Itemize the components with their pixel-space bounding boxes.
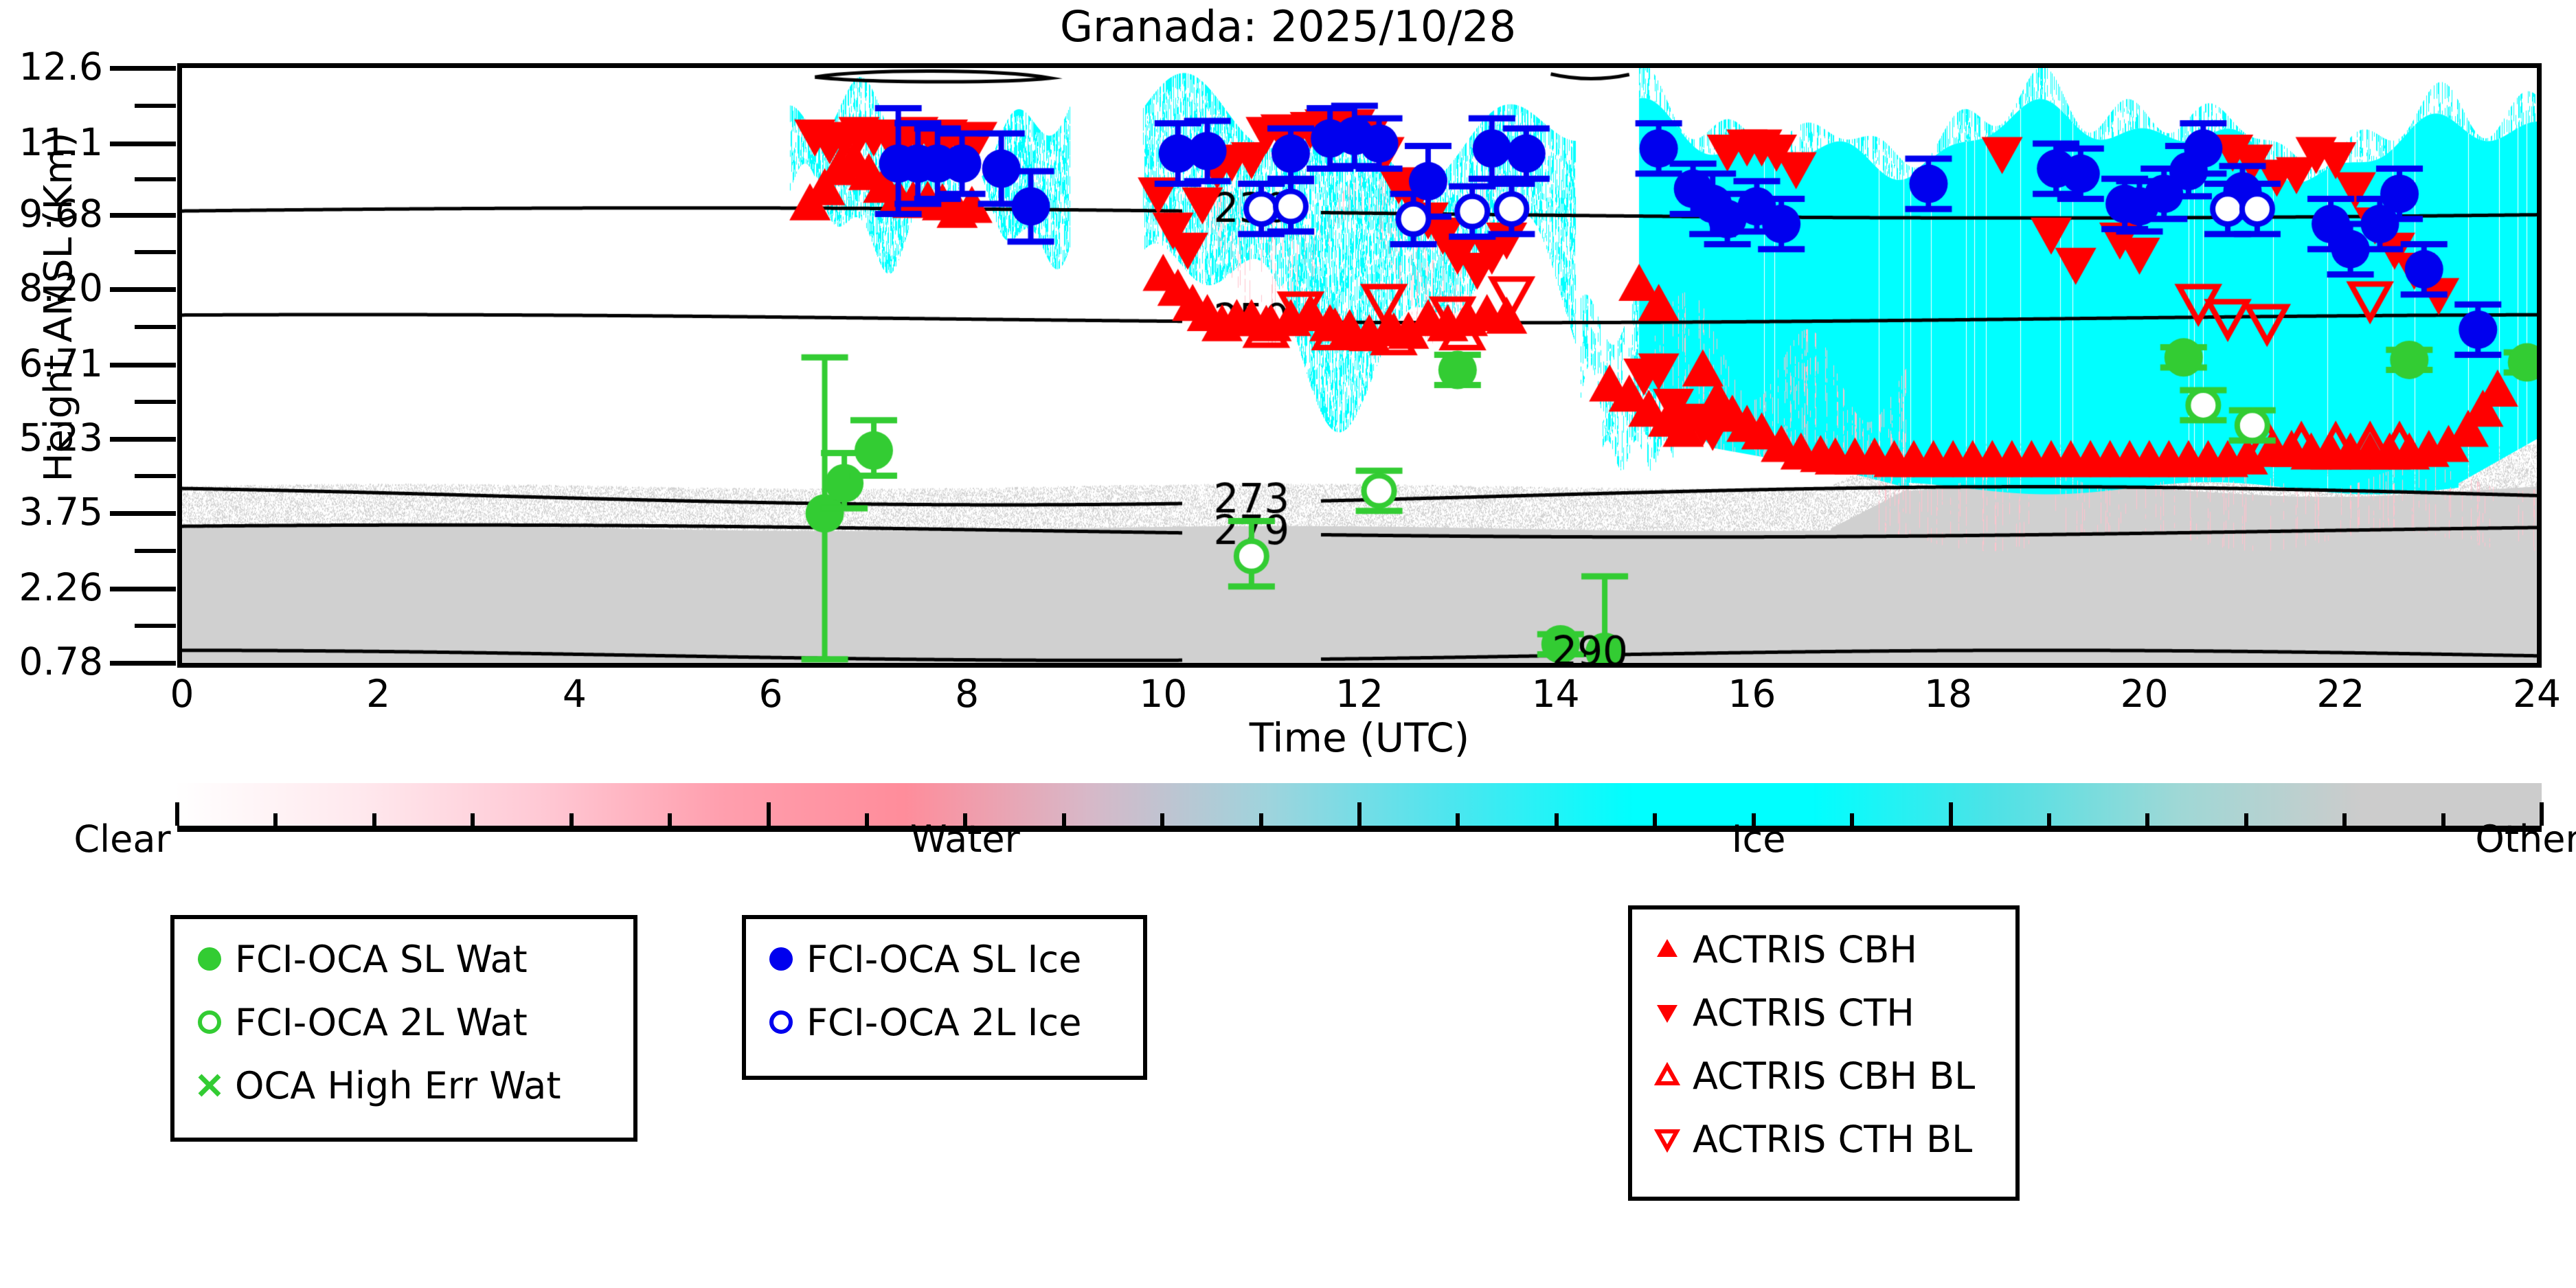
filled-circle-icon xyxy=(184,943,235,975)
legend-item[interactable]: OCA High Err Wat xyxy=(184,1054,633,1117)
filled-circle-icon xyxy=(756,943,806,975)
y-tick-label: 12.6 xyxy=(0,45,103,89)
colorbar-tick xyxy=(1555,813,1559,826)
colorbar-label-other: Other xyxy=(2475,817,2576,861)
colorbar-label-water: Water xyxy=(910,817,1020,861)
legend-item[interactable]: FCI-OCA SL Ice xyxy=(756,927,1143,991)
colorbar-tick xyxy=(471,813,475,826)
x-tick-label: 24 xyxy=(2482,672,2576,716)
colorbar-tick xyxy=(668,813,672,826)
colorbar-tick xyxy=(1850,813,1854,826)
colorbar-tick xyxy=(1160,813,1164,826)
legend-ice: FCI-OCA SL Ice FCI-OCA 2L Ice xyxy=(742,915,1147,1080)
x-tick-label: 4 xyxy=(519,672,629,716)
y-tick xyxy=(110,66,176,71)
x-tick-label: 8 xyxy=(912,672,1022,716)
x-tick-label: 14 xyxy=(1501,672,1611,716)
colorbar-tick xyxy=(372,813,376,826)
y-tick-label: 11.1 xyxy=(0,120,103,164)
x-tick-label: 12 xyxy=(1304,672,1414,716)
y-tick xyxy=(110,587,176,591)
y-tick xyxy=(110,661,176,666)
y-tick xyxy=(110,363,176,368)
legend-label: FCI-OCA SL Ice xyxy=(806,938,1081,981)
legend-item[interactable]: FCI-OCA SL Wat xyxy=(184,927,633,991)
y-tick-minor xyxy=(135,177,176,181)
y-tick xyxy=(110,213,176,218)
colorbar-tick xyxy=(569,813,574,826)
plot-area xyxy=(177,63,2542,668)
open-circle-icon xyxy=(756,1006,806,1038)
page-title: Granada: 2025/10/28 xyxy=(0,1,2576,52)
colorbar-axis-line xyxy=(177,826,2542,832)
x-tick-label: 6 xyxy=(716,672,826,716)
colorbar-tick xyxy=(865,813,869,826)
x-tick-label: 20 xyxy=(2090,672,2200,716)
colorbar-tick xyxy=(2244,813,2248,826)
y-tick-minor xyxy=(135,250,176,254)
y-tick-minor xyxy=(135,104,176,108)
y-tick-minor xyxy=(135,624,176,628)
y-tick xyxy=(110,287,176,292)
y-tick xyxy=(110,142,176,146)
y-tick-label: 2.26 xyxy=(0,565,103,609)
x-tick-label: 22 xyxy=(2285,672,2395,716)
open-triangle-up-icon xyxy=(1642,1060,1693,1092)
legend-water: FCI-OCA SL Wat FCI-OCA 2L Wat OCA High E… xyxy=(170,915,637,1142)
open-circle-icon xyxy=(184,1006,235,1038)
legend-item[interactable]: ACTRIS CTH xyxy=(1642,981,2015,1044)
y-tick-label: 8.20 xyxy=(0,266,103,310)
colorbar-tick xyxy=(2145,813,2149,826)
colorbar-tick xyxy=(1456,813,1460,826)
colorbar-tick xyxy=(175,802,179,826)
colorbar-tick xyxy=(1259,813,1263,826)
colorbar-tick xyxy=(1653,813,1657,826)
y-tick-minor xyxy=(135,474,176,478)
colorbar-tick xyxy=(1357,802,1362,826)
colorbar-tick xyxy=(273,813,278,826)
y-tick-label: 3.75 xyxy=(0,490,103,534)
legend-label: ACTRIS CBH xyxy=(1693,928,1917,971)
legend-item[interactable]: FCI-OCA 2L Ice xyxy=(756,991,1143,1054)
colorbar-label-clear: Clear xyxy=(74,817,170,861)
colorbar-tick xyxy=(2342,813,2347,826)
x-tick-label: 2 xyxy=(324,672,433,716)
colorbar-tick xyxy=(2441,813,2445,826)
legend-item[interactable]: ACTRIS CBH BL xyxy=(1642,1044,2015,1107)
legend-item[interactable]: ACTRIS CTH BL xyxy=(1642,1107,2015,1171)
x-tick-label: 10 xyxy=(1108,672,1218,716)
legend-label: ACTRIS CTH xyxy=(1693,991,1914,1035)
y-tick-label: 9.68 xyxy=(0,192,103,236)
y-tick-minor xyxy=(135,549,176,553)
legend-label: ACTRIS CTH BL xyxy=(1693,1118,1972,1161)
legend-item[interactable]: FCI-OCA 2L Wat xyxy=(184,991,633,1054)
colorbar-tick xyxy=(2047,813,2051,826)
filled-triangle-down-icon xyxy=(1642,997,1693,1028)
chart-stage: Granada: 2025/10/28 Height AMSL (Km) 12.… xyxy=(0,0,2576,1288)
colorbar-tick xyxy=(767,802,771,826)
cloud-mask-canvas xyxy=(182,68,2537,663)
legend-label: ACTRIS CBH BL xyxy=(1693,1054,1975,1098)
x-axis-label: Time (UTC) xyxy=(177,714,2542,761)
legend-label: FCI-OCA 2L Wat xyxy=(235,1001,528,1044)
legend-label: FCI-OCA 2L Ice xyxy=(806,1001,1081,1044)
y-tick xyxy=(110,437,176,442)
x-tick-label: 0 xyxy=(127,672,237,716)
legend-label: FCI-OCA SL Wat xyxy=(235,938,528,981)
y-tick-label: 5.23 xyxy=(0,416,103,460)
y-tick xyxy=(110,511,176,516)
filled-triangle-up-icon xyxy=(1642,934,1693,965)
legend-item[interactable]: ACTRIS CBH xyxy=(1642,918,2015,981)
y-tick-minor xyxy=(135,400,176,404)
x-tick-label: 18 xyxy=(1893,672,2003,716)
open-triangle-down-icon xyxy=(1642,1123,1693,1155)
colorbar-label-ice: Ice xyxy=(1732,817,1786,861)
y-tick-label: 0.78 xyxy=(0,640,103,683)
x-tick-label: 16 xyxy=(1697,672,1807,716)
cross-icon xyxy=(184,1070,235,1101)
y-tick-minor xyxy=(135,325,176,329)
colorbar-tick xyxy=(1949,802,1953,826)
colorbar-tick xyxy=(1062,813,1066,826)
legend-label: OCA High Err Wat xyxy=(235,1064,561,1107)
legend-actris: ACTRIS CBH ACTRIS CTH ACTRIS CBH BL ACTR… xyxy=(1628,905,2020,1201)
y-tick-label: 6.71 xyxy=(0,341,103,385)
